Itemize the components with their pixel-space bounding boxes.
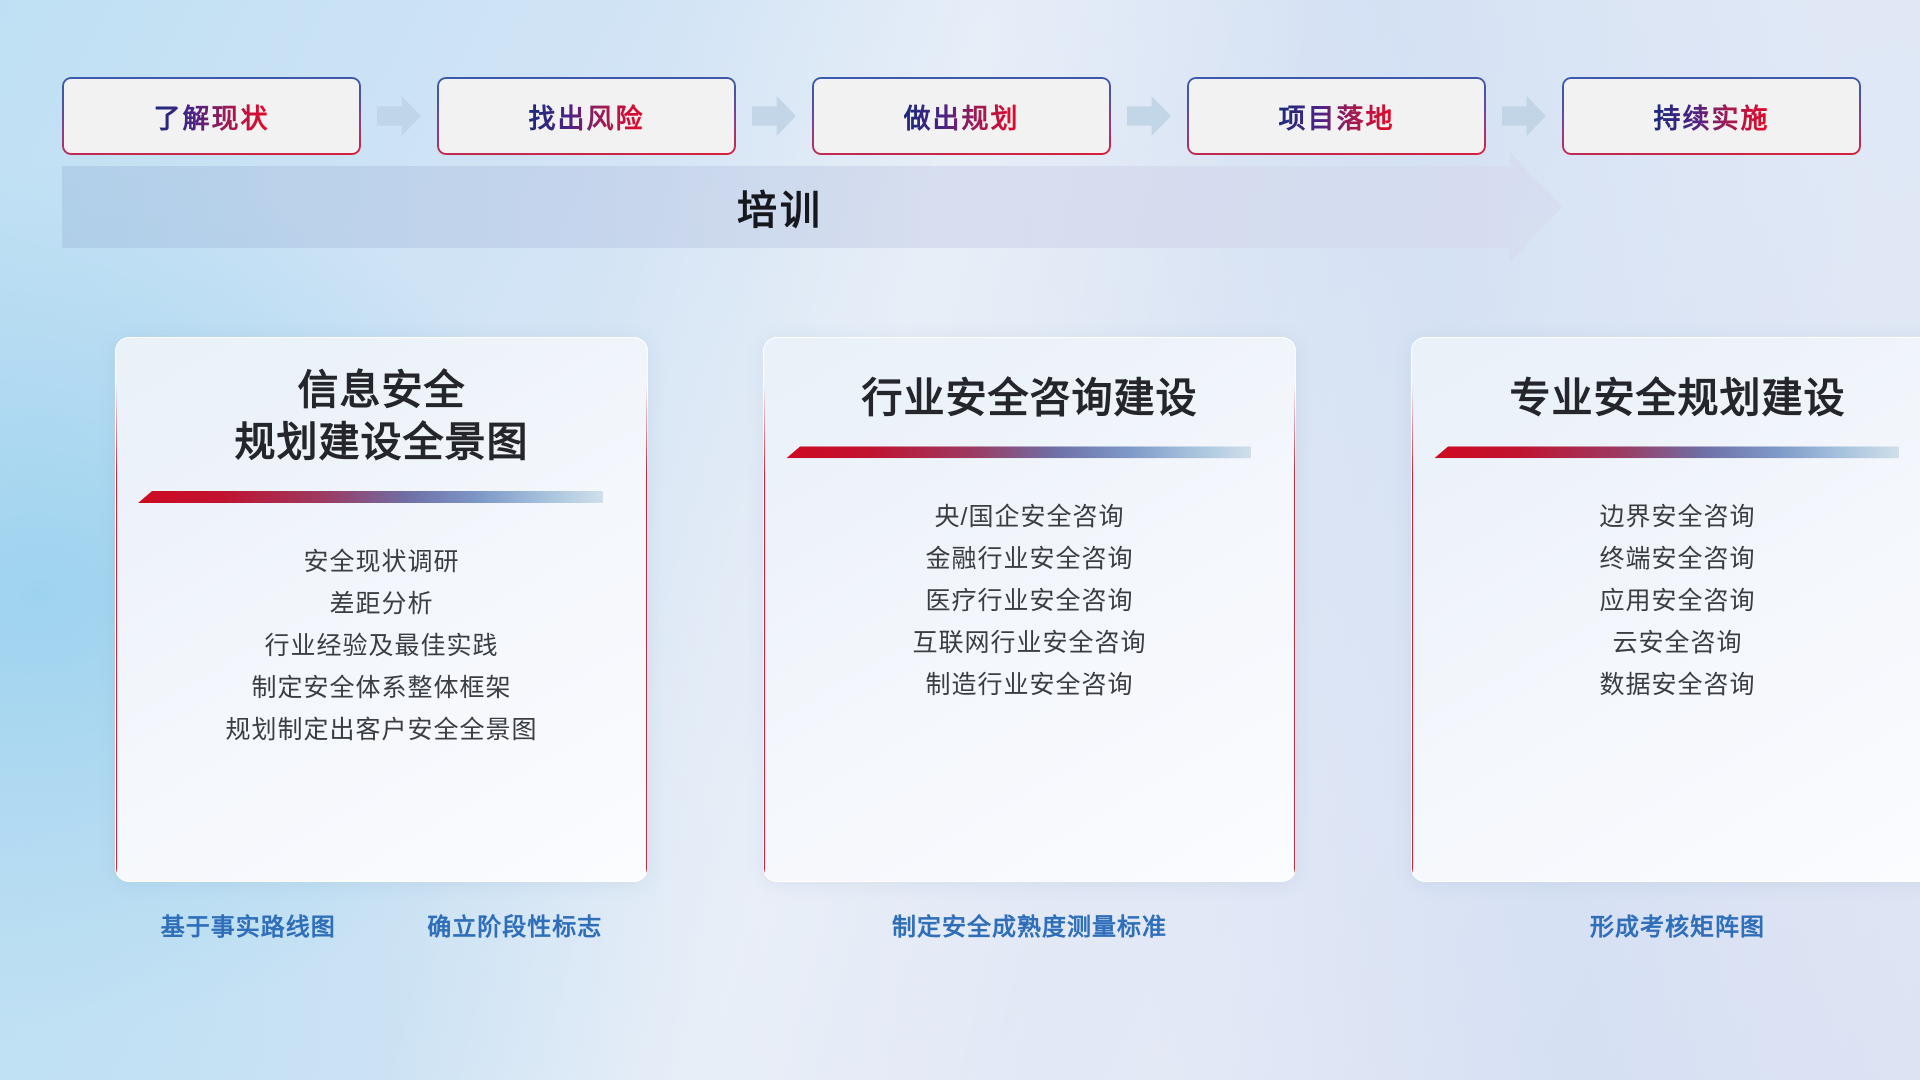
process-step-3[interactable]: 做出规划 [812, 77, 1111, 155]
card-footnotes-1: 基于事实路线图 确立阶段性标志 [115, 907, 648, 942]
process-arrow-3 [1111, 93, 1187, 139]
list-item: 应用安全咨询 [1412, 580, 1920, 622]
card-accent-right [1294, 384, 1296, 881]
card-accent-left [115, 384, 117, 881]
list-item: 央/国企安全咨询 [764, 496, 1295, 538]
card-title: 信息安全 规划建设全景图 [116, 364, 647, 469]
list-item: 规划制定出客户安全全景图 [116, 709, 647, 751]
footnote-label: 制定安全成熟度测量标准 [892, 907, 1167, 942]
list-item: 金融行业安全咨询 [764, 538, 1295, 580]
training-banner-title: 培训 [0, 166, 1560, 248]
card-group: 信息安全 规划建设全景图 安全现状调研 差距分析 行业经验及最佳实践 制定安全体… [0, 337, 1920, 882]
arrow-right-icon [752, 96, 796, 136]
process-step-label: 做出规划 [904, 97, 1020, 136]
process-flow: 了解现状 找出风险 做出规划 项目落地 持续实施 [62, 77, 1862, 155]
card-2[interactable]: 行业安全咨询建设 央/国企安全咨询 金融行业安全咨询 医疗行业安全咨询 互联网行… [763, 337, 1296, 882]
card-accent-left [1411, 384, 1413, 881]
list-item: 制定安全体系整体框架 [116, 667, 647, 709]
list-item: 制造行业安全咨询 [764, 664, 1295, 706]
card-1[interactable]: 信息安全 规划建设全景图 安全现状调研 差距分析 行业经验及最佳实践 制定安全体… [115, 337, 648, 882]
card-footnotes-3: 形成考核矩阵图 [1411, 907, 1920, 942]
card-divider [1434, 446, 1899, 458]
process-step-label: 项目落地 [1279, 97, 1395, 136]
process-step-label: 找出风险 [529, 97, 645, 136]
process-arrow-2 [736, 93, 812, 139]
list-item: 互联网行业安全咨询 [764, 622, 1295, 664]
card-title: 专业安全规划建设 [1412, 372, 1920, 424]
arrow-right-icon [1127, 96, 1171, 136]
process-step-4[interactable]: 项目落地 [1187, 77, 1486, 155]
footnote-label: 确立阶段性标志 [427, 907, 602, 942]
list-item: 边界安全咨询 [1412, 496, 1920, 538]
card-wrapper-1: 信息安全 规划建设全景图 安全现状调研 差距分析 行业经验及最佳实践 制定安全体… [115, 337, 648, 882]
card-item-list: 边界安全咨询 终端安全咨询 应用安全咨询 云安全咨询 数据安全咨询 [1412, 496, 1920, 706]
list-item: 终端安全咨询 [1412, 538, 1920, 580]
slide-canvas: 了解现状 找出风险 做出规划 项目落地 持续实施 培训 [0, 0, 1920, 1080]
process-step-label: 持续实施 [1654, 97, 1770, 136]
list-item: 行业经验及最佳实践 [116, 625, 647, 667]
card-accent-right [646, 384, 648, 881]
card-footnotes-2: 制定安全成熟度测量标准 [763, 907, 1296, 942]
card-3[interactable]: 专业安全规划建设 边界安全咨询 终端安全咨询 应用安全咨询 云安全咨询 数据安全… [1411, 337, 1920, 882]
arrow-right-icon [377, 96, 421, 136]
process-arrow-1 [361, 93, 437, 139]
process-step-1[interactable]: 了解现状 [62, 77, 361, 155]
card-item-list: 央/国企安全咨询 金融行业安全咨询 医疗行业安全咨询 互联网行业安全咨询 制造行… [764, 496, 1295, 706]
card-accent-left [763, 384, 765, 881]
process-step-5[interactable]: 持续实施 [1562, 77, 1861, 155]
arrow-right-icon [1502, 96, 1546, 136]
card-item-list: 安全现状调研 差距分析 行业经验及最佳实践 制定安全体系整体框架 规划制定出客户… [116, 541, 647, 751]
list-item: 安全现状调研 [116, 541, 647, 583]
card-wrapper-3: 专业安全规划建设 边界安全咨询 终端安全咨询 应用安全咨询 云安全咨询 数据安全… [1411, 337, 1920, 882]
process-arrow-4 [1486, 93, 1562, 139]
process-step-2[interactable]: 找出风险 [437, 77, 736, 155]
card-divider [138, 491, 603, 503]
list-item: 医疗行业安全咨询 [764, 580, 1295, 622]
list-item: 差距分析 [116, 583, 647, 625]
card-divider [786, 446, 1251, 458]
process-step-label: 了解现状 [154, 97, 270, 136]
list-item: 数据安全咨询 [1412, 664, 1920, 706]
list-item: 云安全咨询 [1412, 622, 1920, 664]
footnote-label: 基于事实路线图 [161, 907, 336, 942]
card-wrapper-2: 行业安全咨询建设 央/国企安全咨询 金融行业安全咨询 医疗行业安全咨询 互联网行… [763, 337, 1296, 882]
card-title: 行业安全咨询建设 [764, 372, 1295, 424]
footnote-label: 形成考核矩阵图 [1590, 907, 1765, 942]
